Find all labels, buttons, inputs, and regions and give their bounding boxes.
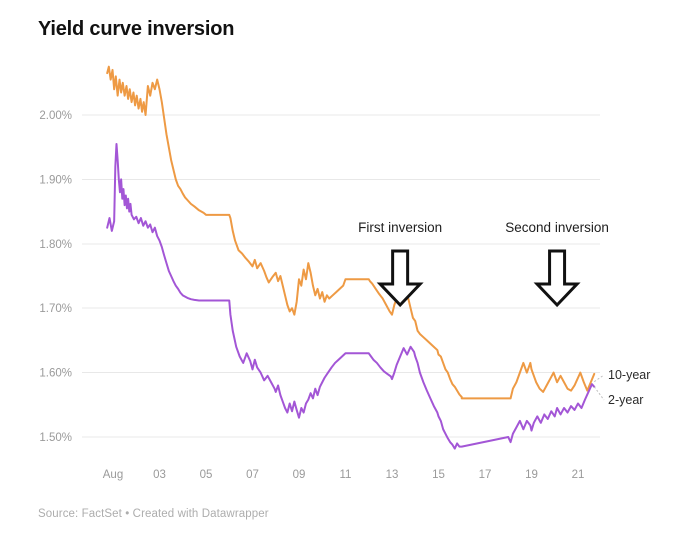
series-lines xyxy=(107,67,594,449)
chart-source-footer: Source: FactSet • Created with Datawrapp… xyxy=(38,508,269,520)
x-axis-tick-label: 17 xyxy=(479,469,492,481)
x-axis-tick-label: 09 xyxy=(293,469,306,481)
y-axis-tick-label: 1.50% xyxy=(39,432,72,444)
y-axis-tick-label: 1.60% xyxy=(39,368,72,380)
x-axis-tick-label: 15 xyxy=(432,469,445,481)
y-axis-tick-label: 1.90% xyxy=(39,174,72,186)
y-axis-tick-label: 1.70% xyxy=(39,303,72,315)
series-leader-line xyxy=(594,387,604,400)
annotation-arrow-first-inversion xyxy=(380,251,420,305)
series-end-label-10-year: 10-year xyxy=(608,368,650,382)
y-axis-tick-label: 1.80% xyxy=(39,239,72,251)
annotations-group: First inversionSecond inversion xyxy=(358,220,609,305)
series-leader-line xyxy=(594,375,604,382)
series-end-labels: 10-year2-year xyxy=(594,368,650,407)
x-axis-tick-label: 13 xyxy=(386,469,399,481)
gridlines-group xyxy=(82,115,600,437)
series-end-label-2-year: 2-year xyxy=(608,393,643,407)
x-axis-tick-label: Aug xyxy=(103,469,123,481)
annotation-arrow-second-inversion xyxy=(537,251,577,305)
x-axis-tick-label: 03 xyxy=(153,469,166,481)
x-axis-labels: Aug03050709111315171921 xyxy=(103,469,585,481)
x-axis-tick-label: 21 xyxy=(572,469,585,481)
x-axis-tick-label: 19 xyxy=(525,469,538,481)
y-axis-labels: 2.00%1.90%1.80%1.70%1.60%1.50% xyxy=(39,110,72,444)
y-axis-tick-label: 2.00% xyxy=(39,110,72,122)
chart-card: Yield curve inversion 2.00%1.90%1.80%1.7… xyxy=(0,0,700,536)
x-axis-tick-label: 05 xyxy=(200,469,213,481)
x-axis-tick-label: 07 xyxy=(246,469,259,481)
x-axis-tick-label: 11 xyxy=(340,469,352,481)
annotation-label-first-inversion: First inversion xyxy=(358,220,442,235)
yield-curve-line-chart: 2.00%1.90%1.80%1.70%1.60%1.50% Aug030507… xyxy=(0,0,700,536)
annotation-label-second-inversion: Second inversion xyxy=(505,220,609,235)
